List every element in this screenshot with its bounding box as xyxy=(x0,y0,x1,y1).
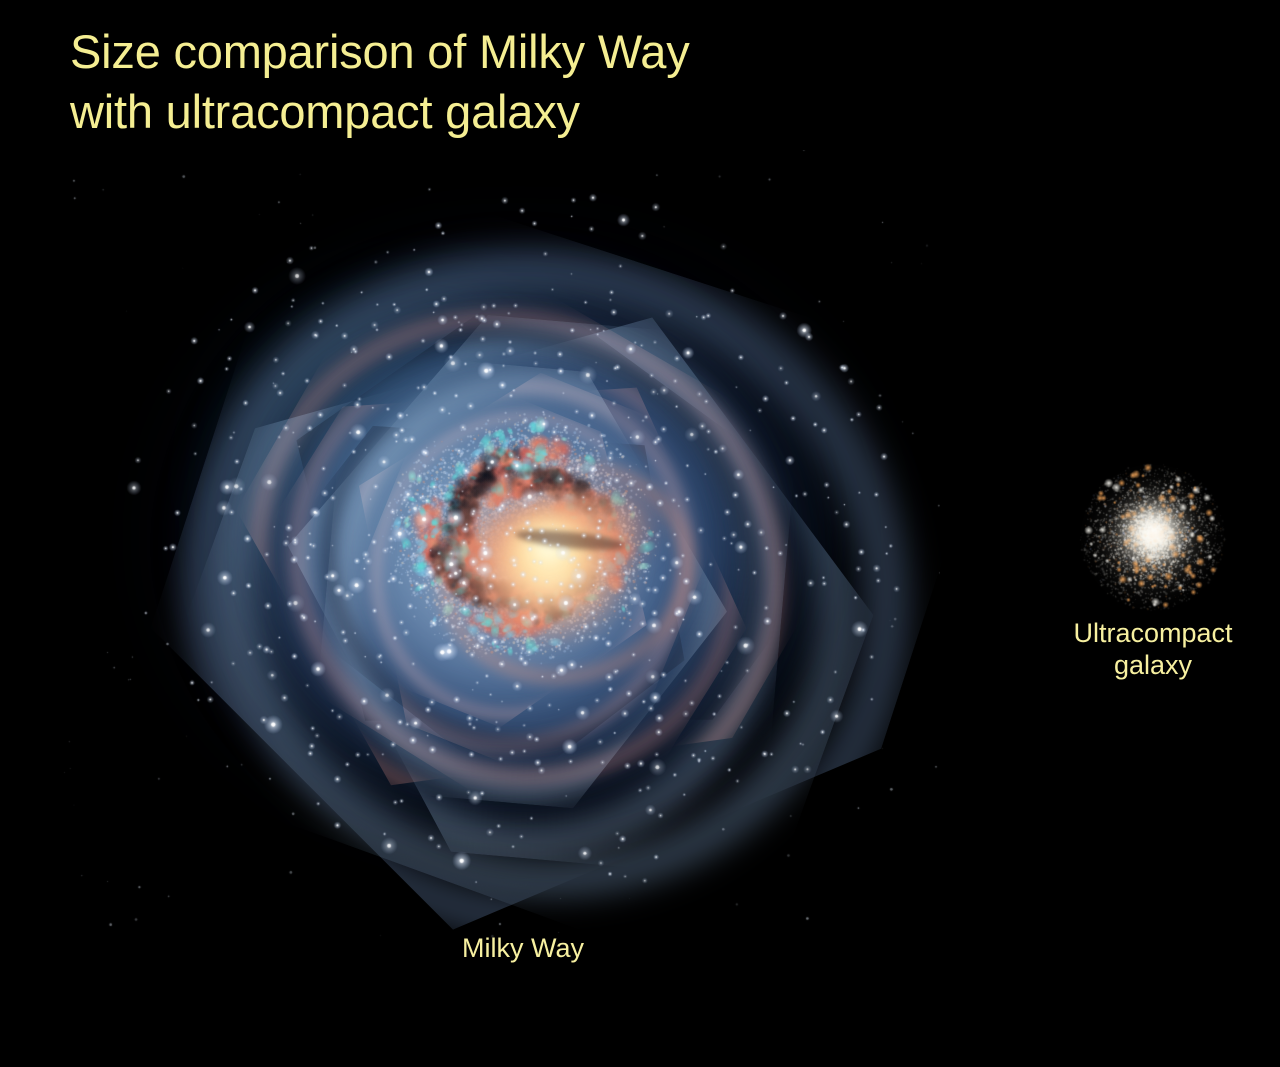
page-title: Size comparison of Milky Way with ultrac… xyxy=(70,22,830,142)
label-ultracompact-galaxy: Ultracompact galaxy xyxy=(1003,618,1280,681)
ultracompact-galaxy xyxy=(1075,458,1230,616)
ucd-core xyxy=(1115,496,1191,570)
illustration-canvas: Size comparison of Milky Way with ultrac… xyxy=(0,0,1280,1067)
milky-way-galaxy xyxy=(60,150,940,940)
label-milky-way: Milky Way xyxy=(373,933,673,965)
